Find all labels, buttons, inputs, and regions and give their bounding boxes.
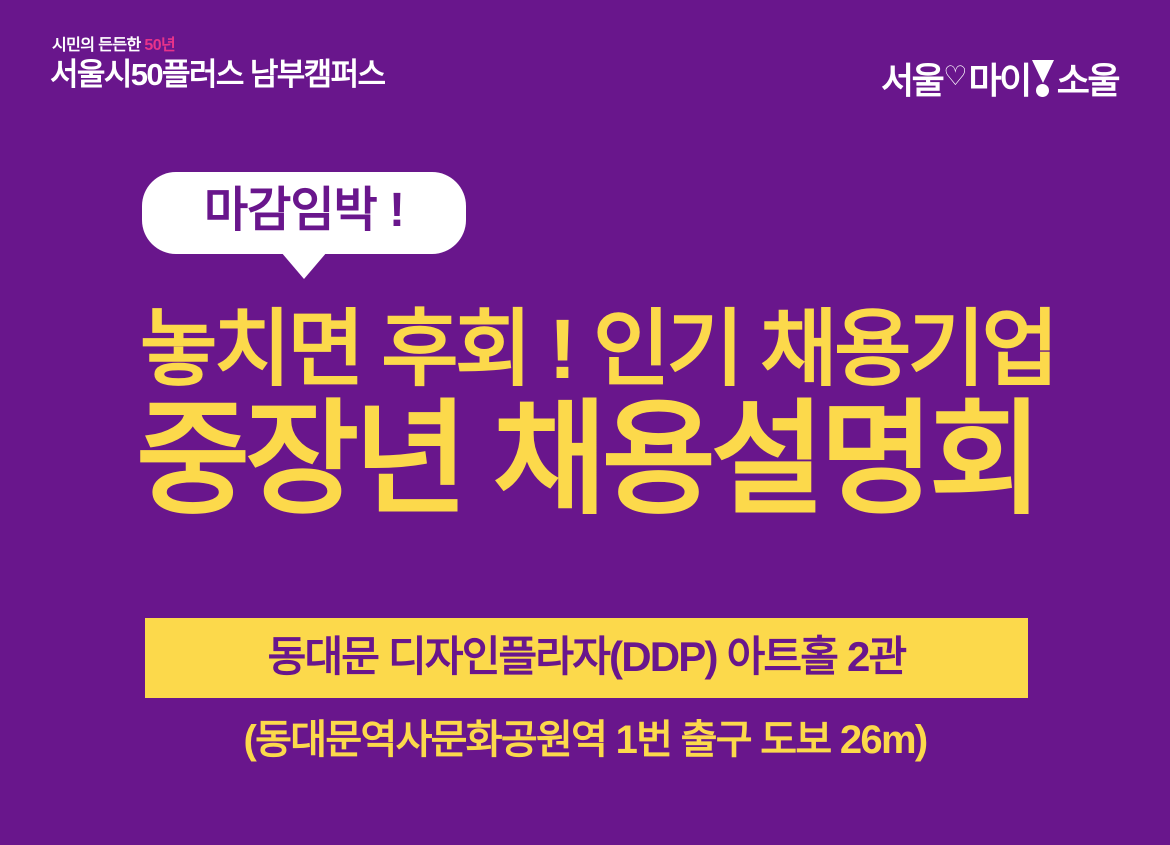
brand-tagline: 시민의 든든한 50년 [52, 38, 384, 54]
headline-line-1: 놓치면 후회 ! 인기 채용기업 [140, 306, 1060, 393]
deadline-badge: 마감임박 ! [142, 172, 466, 254]
slogan-part-soul: 소울 [1057, 52, 1118, 104]
exclamation-triangle-icon [1032, 60, 1054, 98]
speech-bubble-tail [281, 252, 327, 279]
slogan-part-seoul: 서울 [881, 52, 942, 104]
deadline-badge-label: 마감임박 ! [204, 187, 404, 235]
venue-banner: 동대문 디자인플라자(DDP) 아트홀 2관 [145, 618, 1028, 698]
brand-tagline-prefix: 시민의 든든한 [52, 37, 144, 54]
seoul-my-soul-logo: 서울♡마이소울 [881, 55, 1118, 101]
venue-name: 동대문 디자인플라자(DDP) 아트홀 2관 [268, 636, 906, 678]
headline-line-2: 중장년 채용설명회 [136, 395, 1060, 526]
campus-brand-logo: 시민의 든든한 50년 서울시50플러스 남부캠퍼스 [50, 38, 384, 90]
poster-header: 시민의 든든한 50년 서울시50플러스 남부캠퍼스 서울♡마이소울 [0, 0, 1170, 125]
brand-tagline-highlight: 50년 [144, 37, 175, 54]
brand-name: 서울시50플러스 남부캠퍼스 [50, 59, 384, 90]
venue-access-info: (동대문역사문화공원역 1번 출구 도보 26m) [0, 720, 1170, 760]
heart-icon: ♡ [943, 61, 967, 92]
poster-headline: 놓치면 후회 ! 인기 채용기업 중장년 채용설명회 [140, 306, 1060, 527]
slogan-part-my: 마이 [969, 52, 1030, 104]
